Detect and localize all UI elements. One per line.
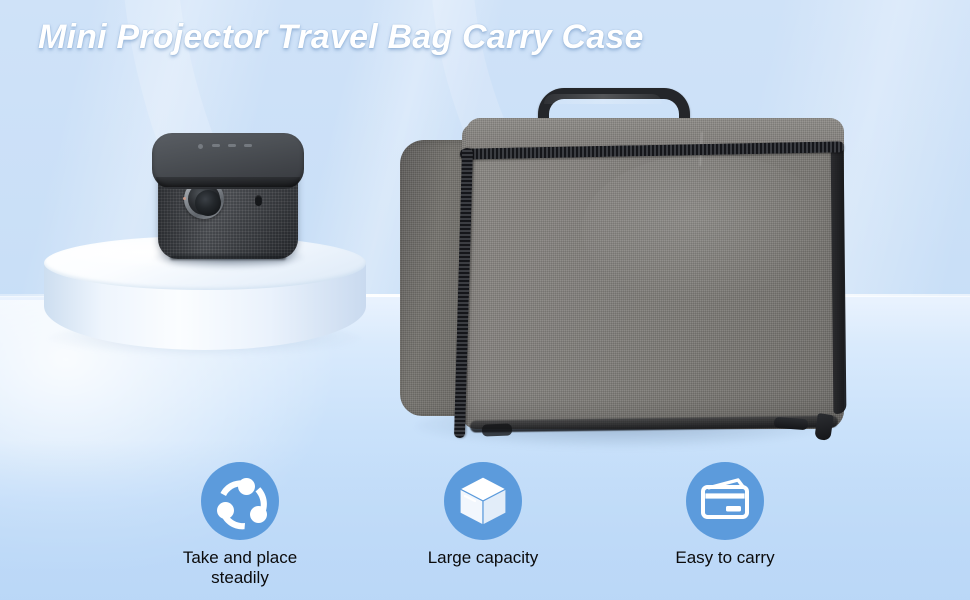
- bag-right-edge-trim: [831, 142, 847, 414]
- mini-projector: [152, 133, 304, 263]
- rotation-arrows-icon: [201, 462, 279, 540]
- bag-handle-highlight: [544, 94, 662, 104]
- box-cube-icon: [444, 462, 522, 540]
- projector-control-button-2: [228, 144, 236, 147]
- feature-label: Large capacity: [378, 548, 588, 568]
- projector-control-button-1: [212, 144, 220, 147]
- projector-top-edge: [156, 177, 300, 187]
- feature-label: Take and place steadily: [135, 548, 345, 588]
- feature-list: Take and place steadily Large capacity: [0, 462, 970, 600]
- bag-zipper-tab: [774, 417, 809, 430]
- product-banner: Mini Projector Travel Bag Carry Case: [0, 0, 970, 600]
- feature-item-large-capacity: Large capacity: [378, 462, 588, 568]
- projector-lens-marker: [183, 197, 186, 200]
- feature-item-easy-to-carry: Easy to carry: [620, 462, 830, 568]
- projector-ir-sensor: [255, 195, 262, 206]
- projector-power-button: [198, 144, 203, 149]
- wallet-card-icon: [686, 462, 764, 540]
- projector-lens-glass: [195, 190, 221, 216]
- bag-front-panel: [462, 124, 844, 429]
- bag-shell: [400, 118, 844, 434]
- projector-base-shadow: [170, 255, 286, 260]
- feature-item-take-and-place: Take and place steadily: [135, 462, 345, 588]
- feature-label: Easy to carry: [620, 548, 830, 568]
- bag-zipper-pull: [814, 413, 833, 441]
- projector-control-button-3: [244, 144, 252, 147]
- bag-front-highlight: [582, 154, 832, 304]
- travel-carry-case: [392, 88, 852, 458]
- page-title: Mini Projector Travel Bag Carry Case: [38, 18, 644, 57]
- bag-foot-left: [482, 423, 512, 436]
